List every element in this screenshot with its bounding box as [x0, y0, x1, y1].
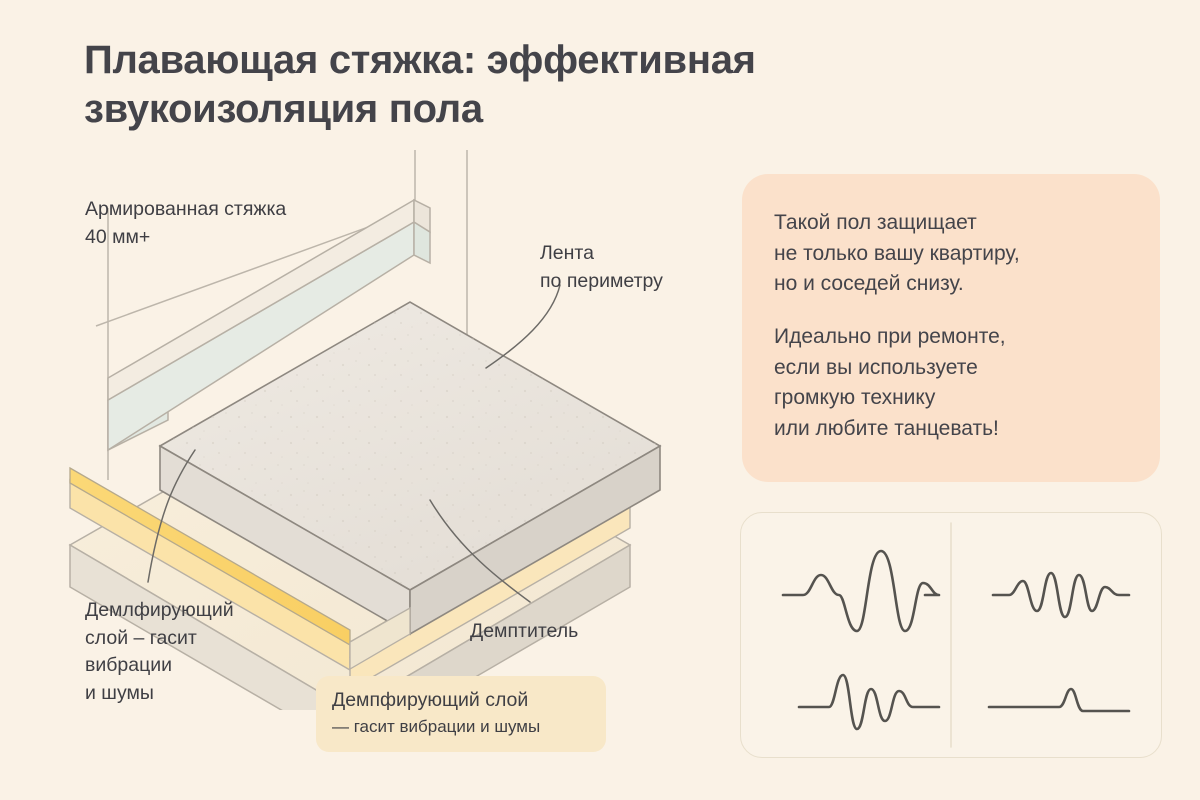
info-paragraph-2: Идеально при ремонте, если вы использует…	[774, 322, 1126, 445]
info-paragraph-1: Такой пол защищает не только вашу кварти…	[774, 208, 1126, 300]
wave-bottom-right	[989, 689, 1129, 711]
callout-line-2: — гасит вибрации и шумы	[332, 716, 590, 739]
page-title: Плавающая стяжка: эффективная звукоизоля…	[84, 36, 964, 134]
callout-line-1: Демпфирующий слой	[332, 688, 590, 713]
damping-callout-box: Демпфирующий слой — гасит вибрации и шум…	[316, 676, 606, 752]
label-damping-layer-left: Демлфирующий слой – гасит вибрации и шум…	[85, 597, 234, 708]
info-panel: Такой пол защищает не только вашу кварти…	[742, 174, 1160, 482]
wave-top-right	[993, 573, 1129, 617]
label-dempter: Демптитель	[470, 618, 578, 646]
label-armoured-screed: Армированная стяжка 40 мм+	[85, 196, 286, 251]
sound-attenuation-card	[740, 512, 1162, 758]
wave-top-left	[783, 551, 939, 631]
wave-bottom-left	[799, 675, 939, 729]
label-perimeter-tape: Лента по периметру	[540, 240, 663, 295]
infographic-root: Плавающая стяжка: эффективная звукоизоля…	[0, 0, 1200, 800]
